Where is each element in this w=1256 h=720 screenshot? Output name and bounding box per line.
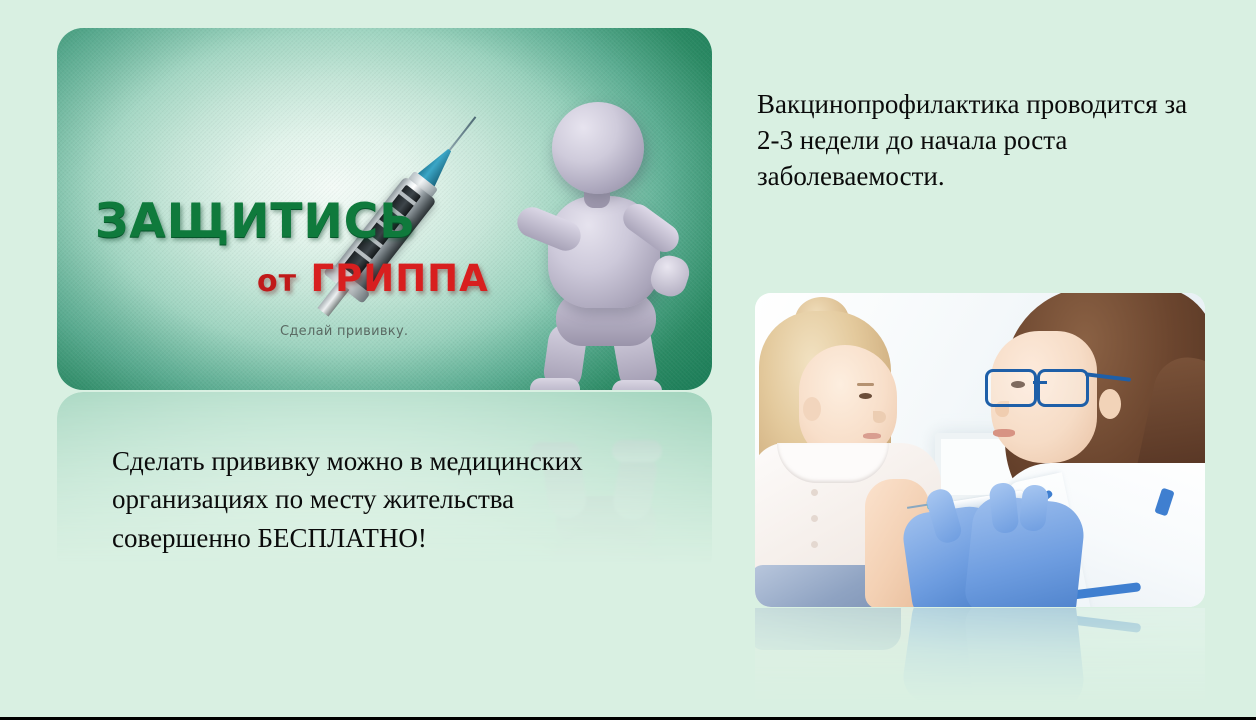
figure-right-foot: [612, 380, 662, 390]
poster-headline: ЗАЩИТИСЬ: [95, 198, 416, 245]
poster-tagline: Сделай прививку.: [280, 324, 408, 339]
poster-canvas: ЗАЩИТИСЬ от ГРИППА Сделай прививку.: [57, 28, 712, 390]
girl-blouse-button: [811, 515, 818, 522]
poster-subhead: от ГРИППА: [257, 260, 489, 298]
photo-reflection: [755, 608, 1205, 708]
nurse-eyeglasses-lens-right: [1037, 369, 1089, 407]
free-vaccination-text: Сделать прививку можно в медицинских орг…: [112, 442, 652, 557]
reflection-shape: [995, 608, 1205, 708]
poster-subhead-prefix: от: [257, 264, 297, 299]
photo-reflection-surface: [755, 608, 1205, 708]
reflection-shape: [963, 608, 1087, 708]
nurse-eyeglasses-lens-left: [985, 369, 1037, 407]
nurse-ear: [1099, 389, 1121, 419]
reflection-shape: [1045, 612, 1141, 633]
figure-left-foot: [530, 378, 580, 390]
presentation-slide: ЗАЩИТИСЬ от ГРИППА Сделай прививку.: [0, 0, 1256, 720]
photo-frame: [755, 293, 1205, 607]
reflection-shape: [755, 608, 941, 708]
girl-mouth: [863, 433, 881, 439]
figure-head: [552, 102, 644, 194]
reflection-shape: [755, 608, 901, 650]
girl-ear: [803, 397, 821, 421]
nurse-eyeglasses-bridge: [1033, 381, 1047, 384]
reflection-shape: [755, 608, 1205, 708]
reflection-shape: [900, 608, 1010, 708]
vaccination-photo[interactable]: [755, 293, 1205, 607]
poster-subhead-main: ГРИППА: [311, 257, 489, 300]
girl-blouse-button: [811, 541, 818, 548]
flu-poster-card[interactable]: ЗАЩИТИСЬ от ГРИППА Сделай прививку.: [57, 28, 712, 390]
girl-blouse-button: [811, 489, 818, 496]
syringe-needle: [446, 116, 476, 153]
girl-eye: [859, 393, 872, 399]
vaccination-timing-text: Вакцинопрофилактика проводится за 2-3 не…: [757, 86, 1197, 195]
nurse-lips: [993, 429, 1015, 437]
girl-nose: [873, 411, 886, 423]
girl-eyebrow: [857, 383, 874, 386]
mannequin-figure-illustration: [512, 96, 712, 390]
